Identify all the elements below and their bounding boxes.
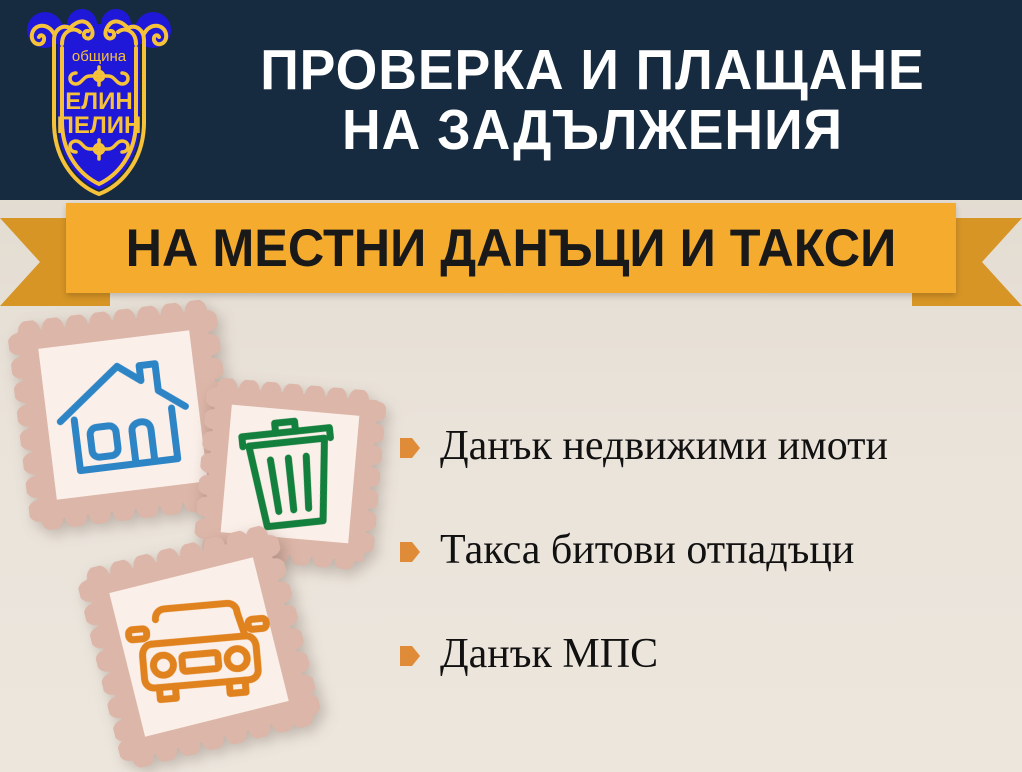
list-item: Такса битови отпадъци: [400, 529, 1015, 571]
list-item: Данък МПС: [400, 633, 1015, 675]
municipality-crest-logo: община ЕЛИН ПЕЛИН: [18, 4, 180, 196]
stamps-group: [0, 296, 420, 772]
crest-small-label: община: [72, 48, 127, 65]
list-item-label: Данък МПС: [440, 633, 658, 675]
crest-name-line1: ЕЛИН: [65, 88, 132, 115]
tax-type-list: Данък недвижими имоти Такса битови отпад…: [400, 425, 1015, 675]
page-title: ПРОВЕРКА И ПЛАЩАНЕ НА ЗАДЪЛЖЕНИЯ: [185, 18, 1000, 183]
title-line-2: НА ЗАДЪЛЖЕНИЯ: [342, 101, 843, 160]
list-item-label: Данък недвижими имоти: [440, 425, 888, 467]
list-item-label: Такса битови отпадъци: [440, 529, 854, 571]
ribbon-text: НА МЕСТНИ ДАНЪЦИ И ТАКСИ: [88, 203, 934, 293]
title-line-1: ПРОВЕРКА И ПЛАЩАНЕ: [260, 41, 925, 100]
ribbon-band: НА МЕСТНИ ДАНЪЦИ И ТАКСИ: [66, 203, 956, 293]
arrow-bullet-icon: [400, 540, 420, 564]
ribbon-banner: НА МЕСТНИ ДАНЪЦИ И ТАКСИ: [0, 196, 1022, 316]
list-item: Данък недвижими имоти: [400, 425, 1015, 467]
header-bar: община ЕЛИН ПЕЛИН ПРОВЕРКА И ПЛАЩАНЕ НА …: [0, 0, 1022, 200]
crest-name-line2: ПЕЛИН: [57, 112, 142, 139]
arrow-bullet-icon: [400, 644, 420, 668]
arrow-bullet-icon: [400, 436, 420, 460]
poster-canvas: община ЕЛИН ПЕЛИН ПРОВЕРКА И ПЛАЩАНЕ НА …: [0, 0, 1022, 772]
